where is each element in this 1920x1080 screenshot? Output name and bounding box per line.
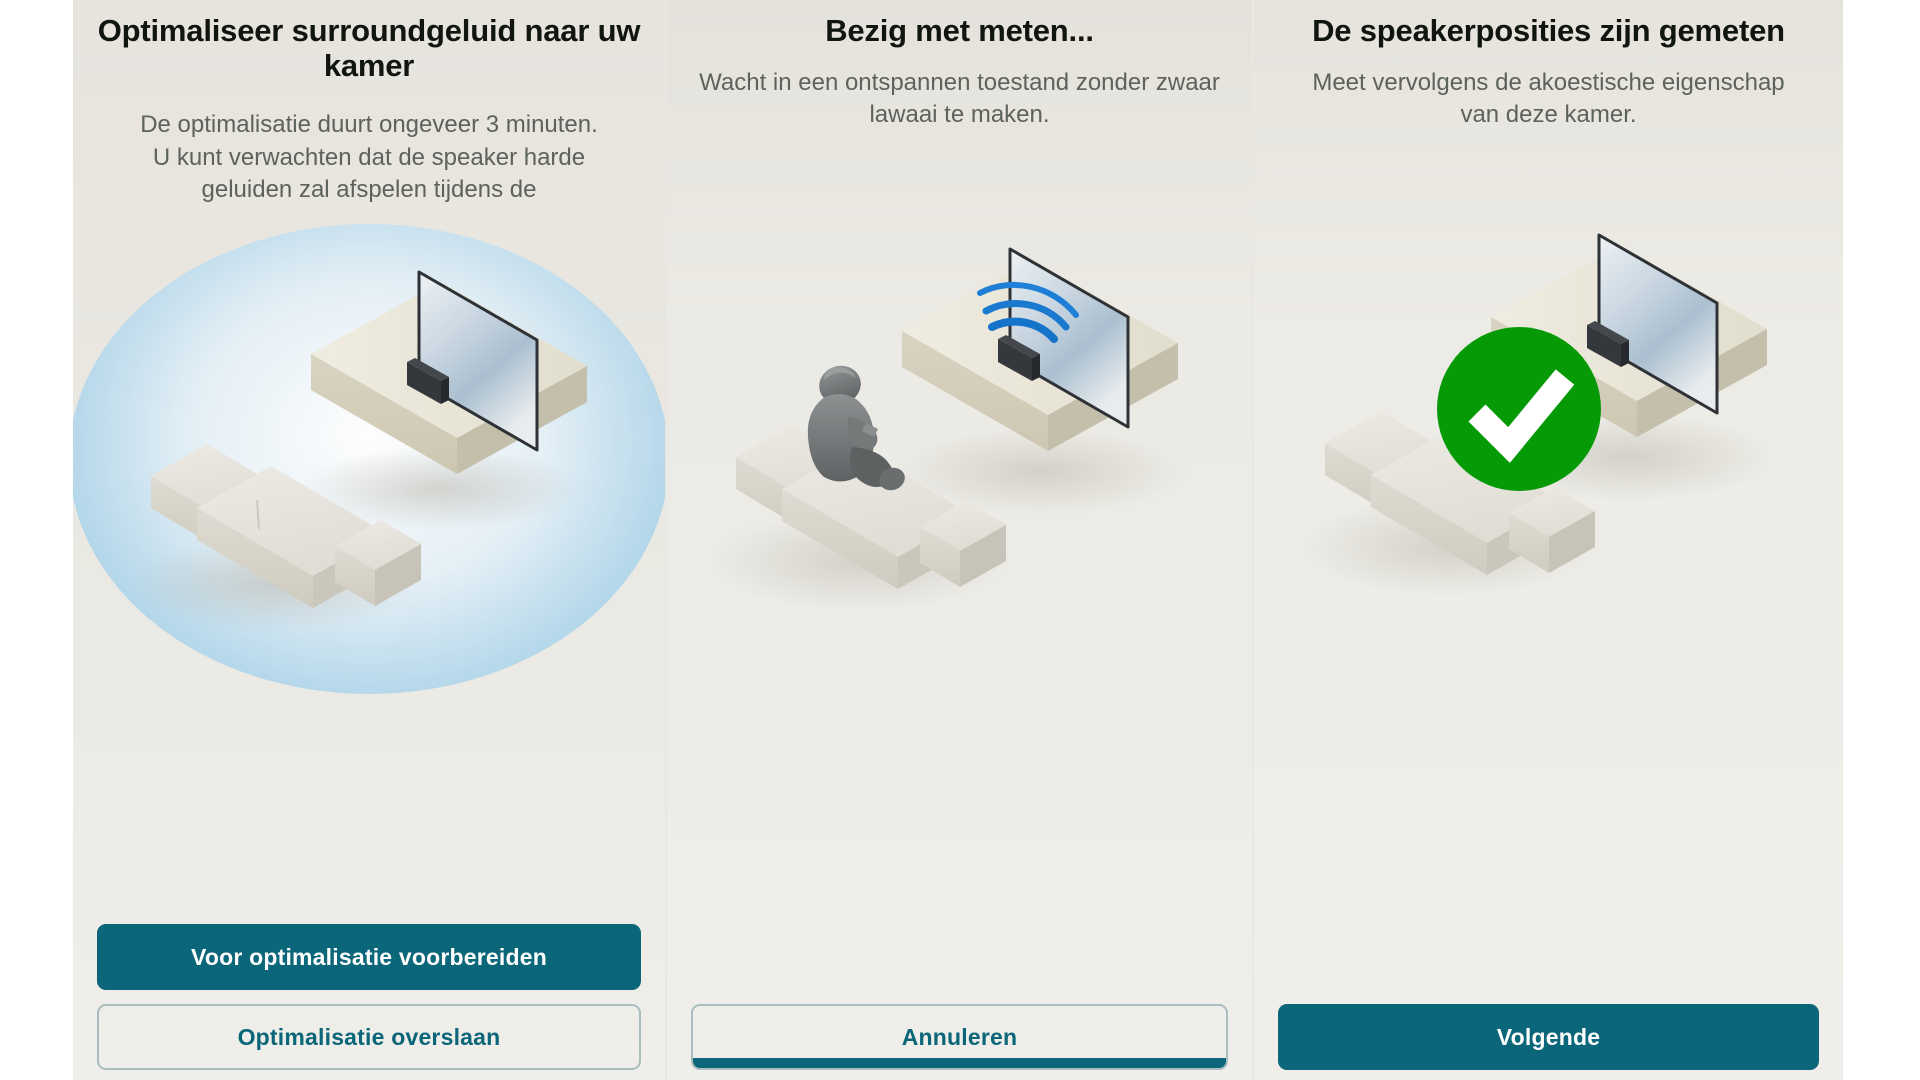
next-button-label: Volgende [1497,1024,1600,1051]
panel-3-illustration [1254,131,1843,924]
left-gutter [0,0,73,1080]
panel-2-illustration [667,131,1252,924]
panel-1-subtitle: De optimalisatie duurt ongeveer 3 minute… [109,109,629,205]
app-screen: Optimaliseer surroundgeluid naar uw kame… [0,0,1920,1080]
panel-3-buttons: Volgende [1254,924,1843,1080]
panel-2-text-block: Bezig met meten... Wacht in een ontspann… [667,0,1252,131]
panel-2-buttons: Annuleren [667,924,1252,1080]
cancel-button-label: Annuleren [902,1024,1018,1051]
prepare-optimization-button-label: Voor optimalisatie voorbereiden [191,944,547,971]
room-scene-2 [680,231,1240,661]
panel-container: Optimaliseer surroundgeluid naar uw kame… [73,0,1843,1080]
skip-optimization-button[interactable]: Optimalisatie overslaan [97,1004,641,1070]
skip-optimization-button-label: Optimalisatie overslaan [238,1024,501,1051]
panel-1-title: Optimaliseer surroundgeluid naar uw kame… [95,0,643,83]
success-check-badge [1437,327,1601,491]
panel-3-text-block: De speakerposities zijn gemeten Meet ver… [1254,0,1843,131]
panel-2-subtitle: Wacht in een ontspannen toestand zonder … [689,67,1230,131]
panel-3-subtitle: Meet vervolgens de akoestische eigenscha… [1299,67,1799,131]
panel-1-buttons: Voor optimalisatie voorbereiden Optimali… [73,924,665,1080]
panel-measuring: Bezig met meten... Wacht in een ontspann… [665,0,1252,1080]
panel-1-text-block: Optimaliseer surroundgeluid naar uw kame… [73,0,665,206]
room-scene-1 [89,254,649,684]
cancel-button[interactable]: Annuleren [691,1004,1228,1070]
room-scene-3 [1269,217,1829,647]
panel-3-title: De speakerposities zijn gemeten [1276,0,1821,49]
prepare-optimization-button[interactable]: Voor optimalisatie voorbereiden [97,924,641,990]
panel-2-title: Bezig met meten... [690,0,1230,49]
right-gutter [1843,0,1920,1080]
panel-prepare-optimization: Optimaliseer surroundgeluid naar uw kame… [73,0,665,1080]
panel-measured: De speakerposities zijn gemeten Meet ver… [1252,0,1843,1080]
seated-person-icon [807,360,907,493]
panel-1-illustration [73,206,665,924]
next-button[interactable]: Volgende [1278,1004,1819,1070]
